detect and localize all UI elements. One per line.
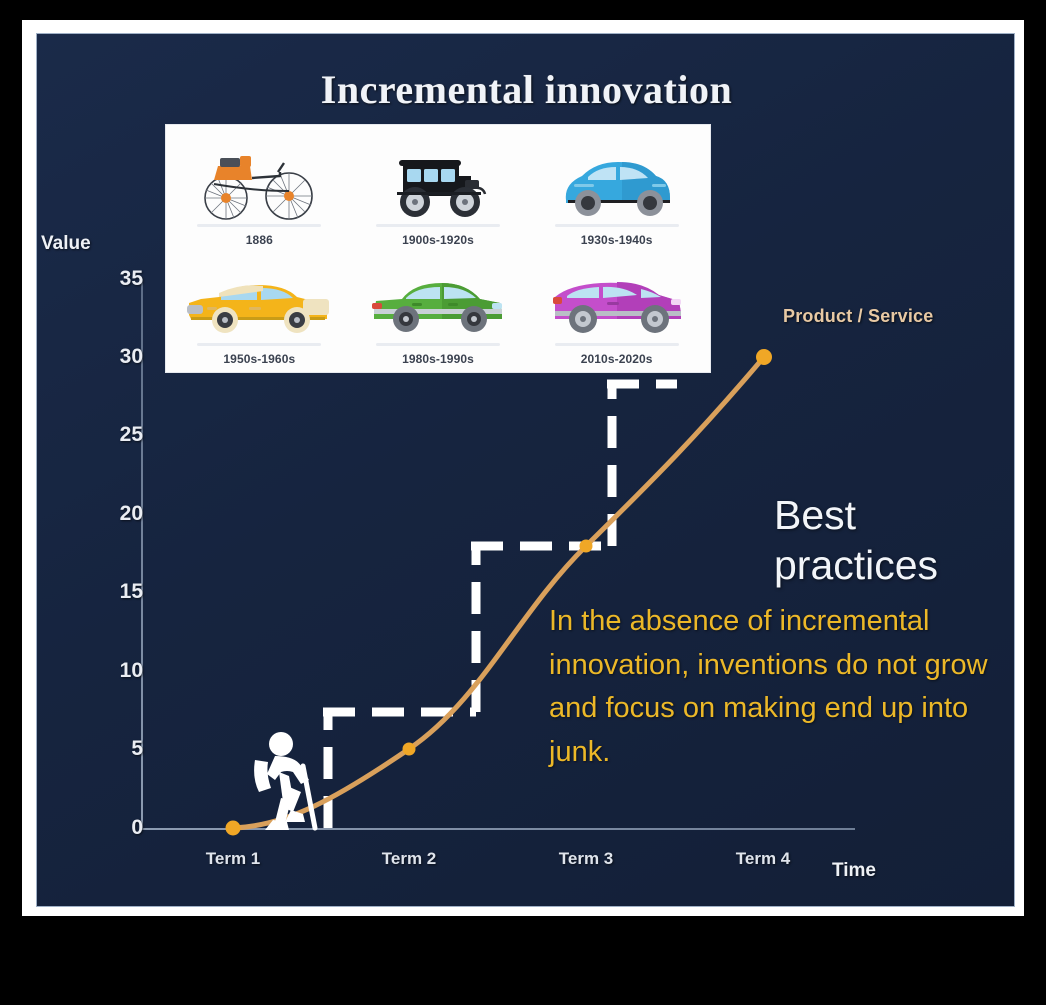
- product-service-label: Product / Service: [783, 306, 933, 327]
- hiker-pictogram-icon: [235, 726, 327, 836]
- screenshot-canvas: Incremental innovation: [0, 0, 1046, 1005]
- chart-plot-area: Value Time 35 30 25 20 15 10 5 0 Term 1 …: [37, 34, 1015, 907]
- best-practices-label: Best practices: [774, 490, 984, 590]
- callout-text: In the absence of incremental innovation…: [549, 600, 994, 774]
- slide-canvas: Incremental innovation: [36, 33, 1015, 907]
- product-service-line-series: [37, 34, 1015, 907]
